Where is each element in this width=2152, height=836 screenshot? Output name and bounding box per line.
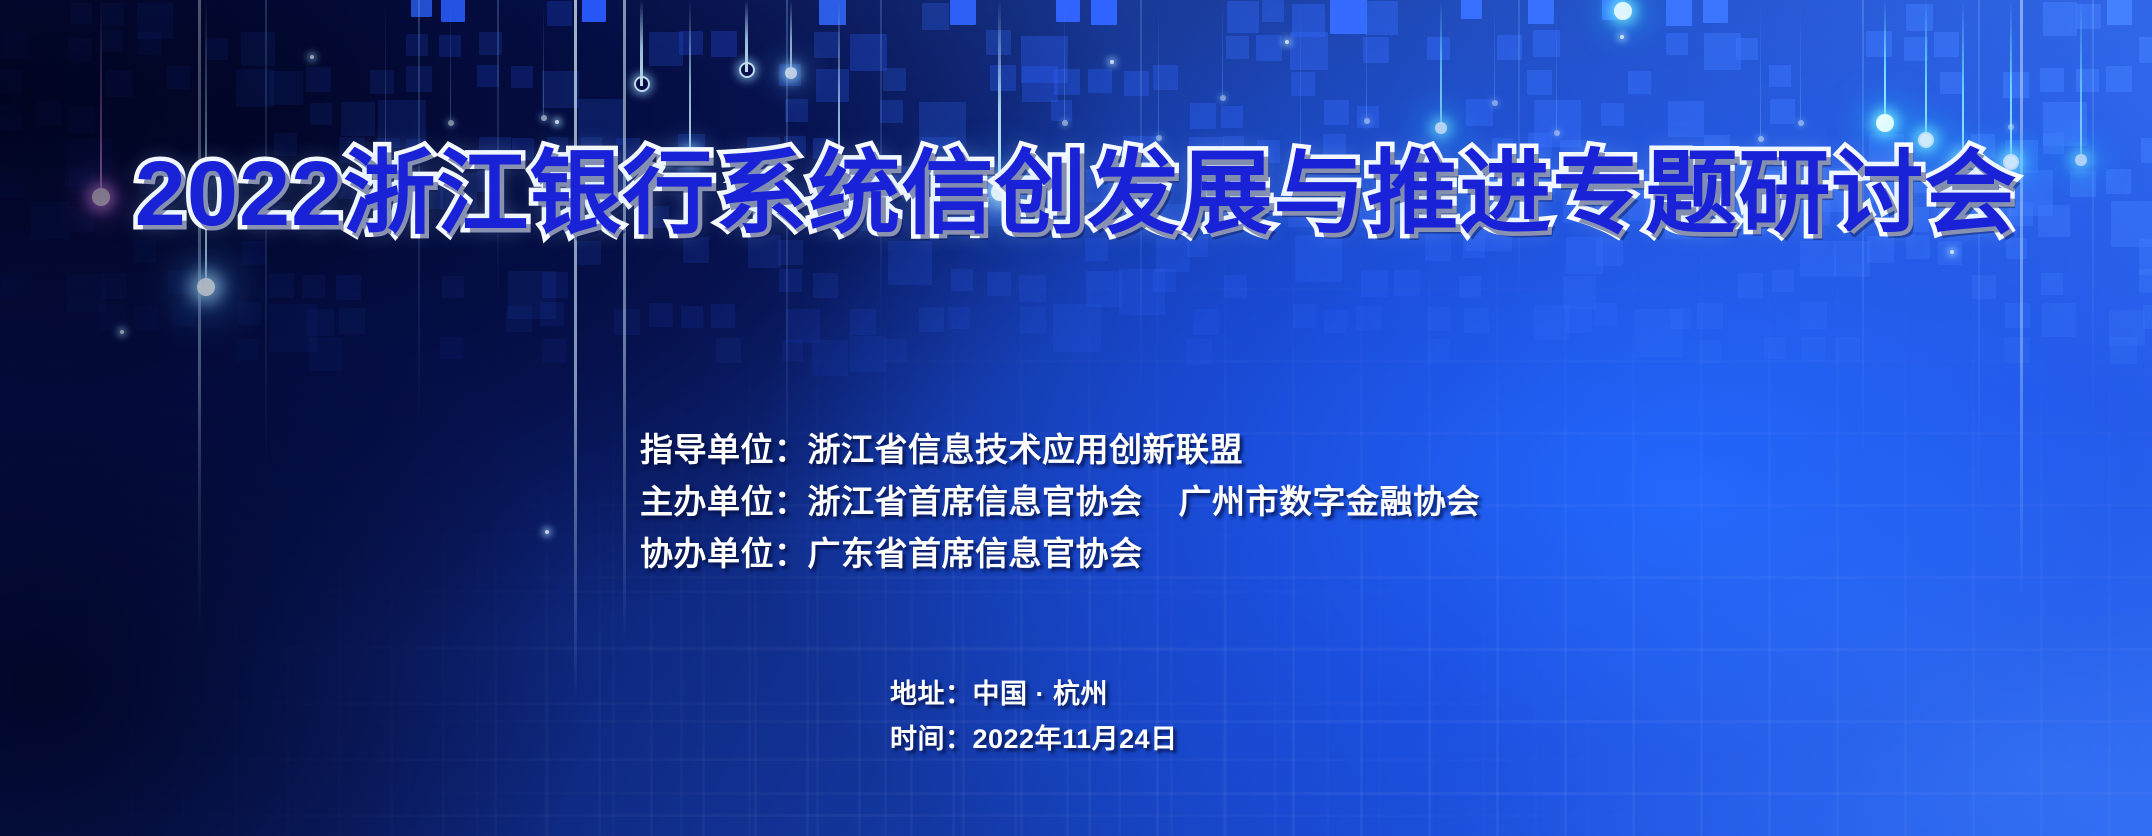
meta-value-address: 中国 · 杭州 bbox=[973, 679, 1109, 709]
banner-content: 2022浙江银行系统信创发展与推进专题研讨会 指导单位：浙江省信息技术应用创新联… bbox=[0, 0, 2152, 836]
organizer-label-cohost: 协办单位： bbox=[640, 535, 808, 572]
organizer-line-guidance: 指导单位：浙江省信息技术应用创新联盟 bbox=[640, 424, 1480, 476]
meta-value-date: 2022年11月24日 bbox=[973, 724, 1178, 754]
organizer-block: 指导单位：浙江省信息技术应用创新联盟 主办单位：浙江省首席信息官协会广州市数字金… bbox=[640, 424, 1480, 580]
meta-label-date: 时间： bbox=[890, 724, 973, 754]
organizer-value-host-primary: 浙江省首席信息官协会 bbox=[808, 483, 1143, 520]
meta-line-date: 时间：2022年11月24日 bbox=[890, 717, 1178, 762]
organizer-label-guidance: 指导单位： bbox=[640, 431, 808, 468]
organizer-value-guidance: 浙江省信息技术应用创新联盟 bbox=[808, 431, 1244, 468]
banner-title: 2022浙江银行系统信创发展与推进专题研讨会 bbox=[0, 148, 2152, 240]
meta-label-address: 地址： bbox=[890, 679, 973, 709]
meta-line-address: 地址：中国 · 杭州 bbox=[890, 672, 1178, 717]
conference-banner: 2022浙江银行系统信创发展与推进专题研讨会 指导单位：浙江省信息技术应用创新联… bbox=[0, 0, 2152, 836]
meta-block: 地址：中国 · 杭州 时间：2022年11月24日 bbox=[890, 672, 1178, 762]
organizer-line-cohost: 协办单位：广东省首席信息官协会 bbox=[640, 528, 1480, 580]
organizer-value-cohost: 广东省首席信息官协会 bbox=[808, 535, 1143, 572]
organizer-value-host-secondary: 广州市数字金融协会 bbox=[1179, 483, 1481, 520]
organizer-line-host: 主办单位：浙江省首席信息官协会广州市数字金融协会 bbox=[640, 476, 1480, 528]
organizer-label-host: 主办单位： bbox=[640, 483, 808, 520]
